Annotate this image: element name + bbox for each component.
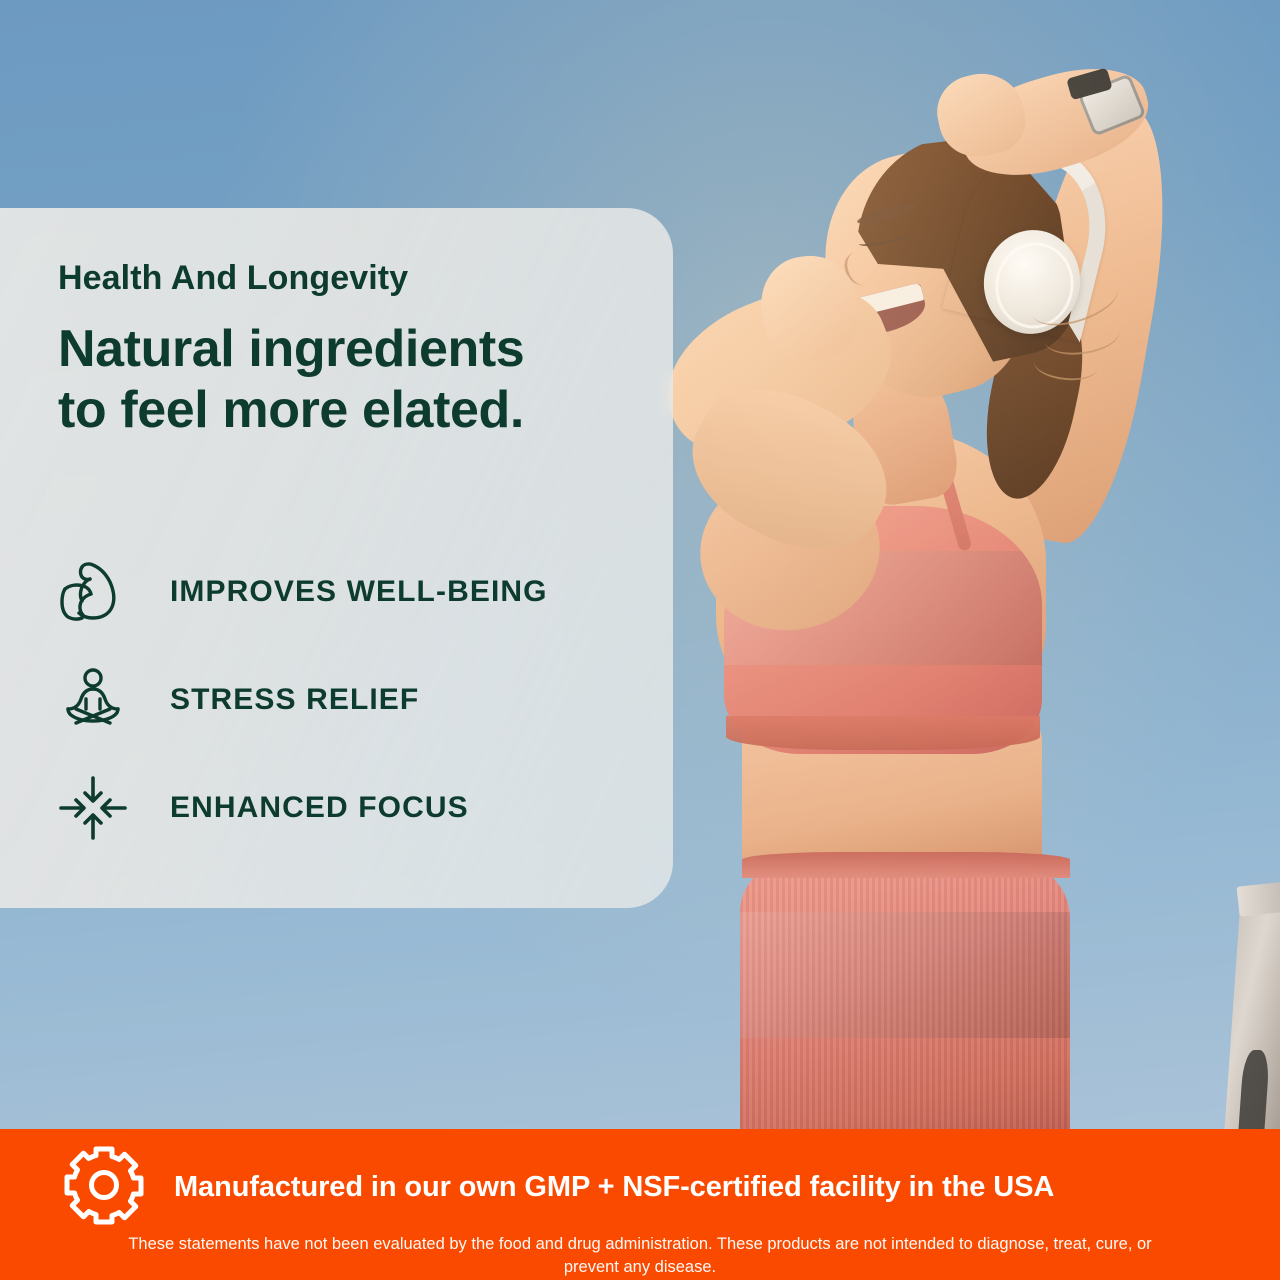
feature-list: IMPROVES WELL-BEING STRESS RELIEF (58, 538, 658, 862)
gear-icon (62, 1143, 148, 1232)
feature-item: ENHANCED FOCUS (58, 754, 658, 862)
headline-line-1: Natural ingredients (58, 319, 618, 379)
content-card: Health And Longevity Natural ingredients… (0, 208, 673, 908)
certification-footer: Manufactured in our own GMP + NSF-certif… (0, 1129, 1280, 1280)
feature-label: IMPROVES WELL-BEING (170, 575, 548, 609)
leggings (740, 858, 1070, 1158)
headline: Natural ingredients to feel more elated. (58, 319, 618, 440)
leggings-waistband (742, 852, 1070, 878)
footer-disclaimer: These statements have not been evaluated… (0, 1233, 1280, 1280)
footer-banner-row: Manufactured in our own GMP + NSF-certif… (0, 1129, 1280, 1232)
flexed-bicep-icon (58, 559, 136, 625)
eyebrow-label: Health And Longevity (58, 260, 618, 297)
footer-banner-text: Manufactured in our own GMP + NSF-certif… (174, 1171, 1054, 1204)
card-heading-group: Health And Longevity Natural ingredients… (58, 260, 618, 440)
feature-item: STRESS RELIEF (58, 646, 658, 754)
feature-label: ENHANCED FOCUS (170, 791, 469, 825)
headline-line-2: to feel more elated. (58, 380, 618, 440)
promo-banner: Health And Longevity Natural ingredients… (0, 0, 1280, 1280)
converging-arrows-focus-icon (58, 775, 136, 841)
meditation-lotus-icon (58, 667, 136, 733)
sports-bra-band (726, 716, 1040, 750)
feature-item: IMPROVES WELL-BEING (58, 538, 658, 646)
feature-label: STRESS RELIEF (170, 683, 419, 717)
